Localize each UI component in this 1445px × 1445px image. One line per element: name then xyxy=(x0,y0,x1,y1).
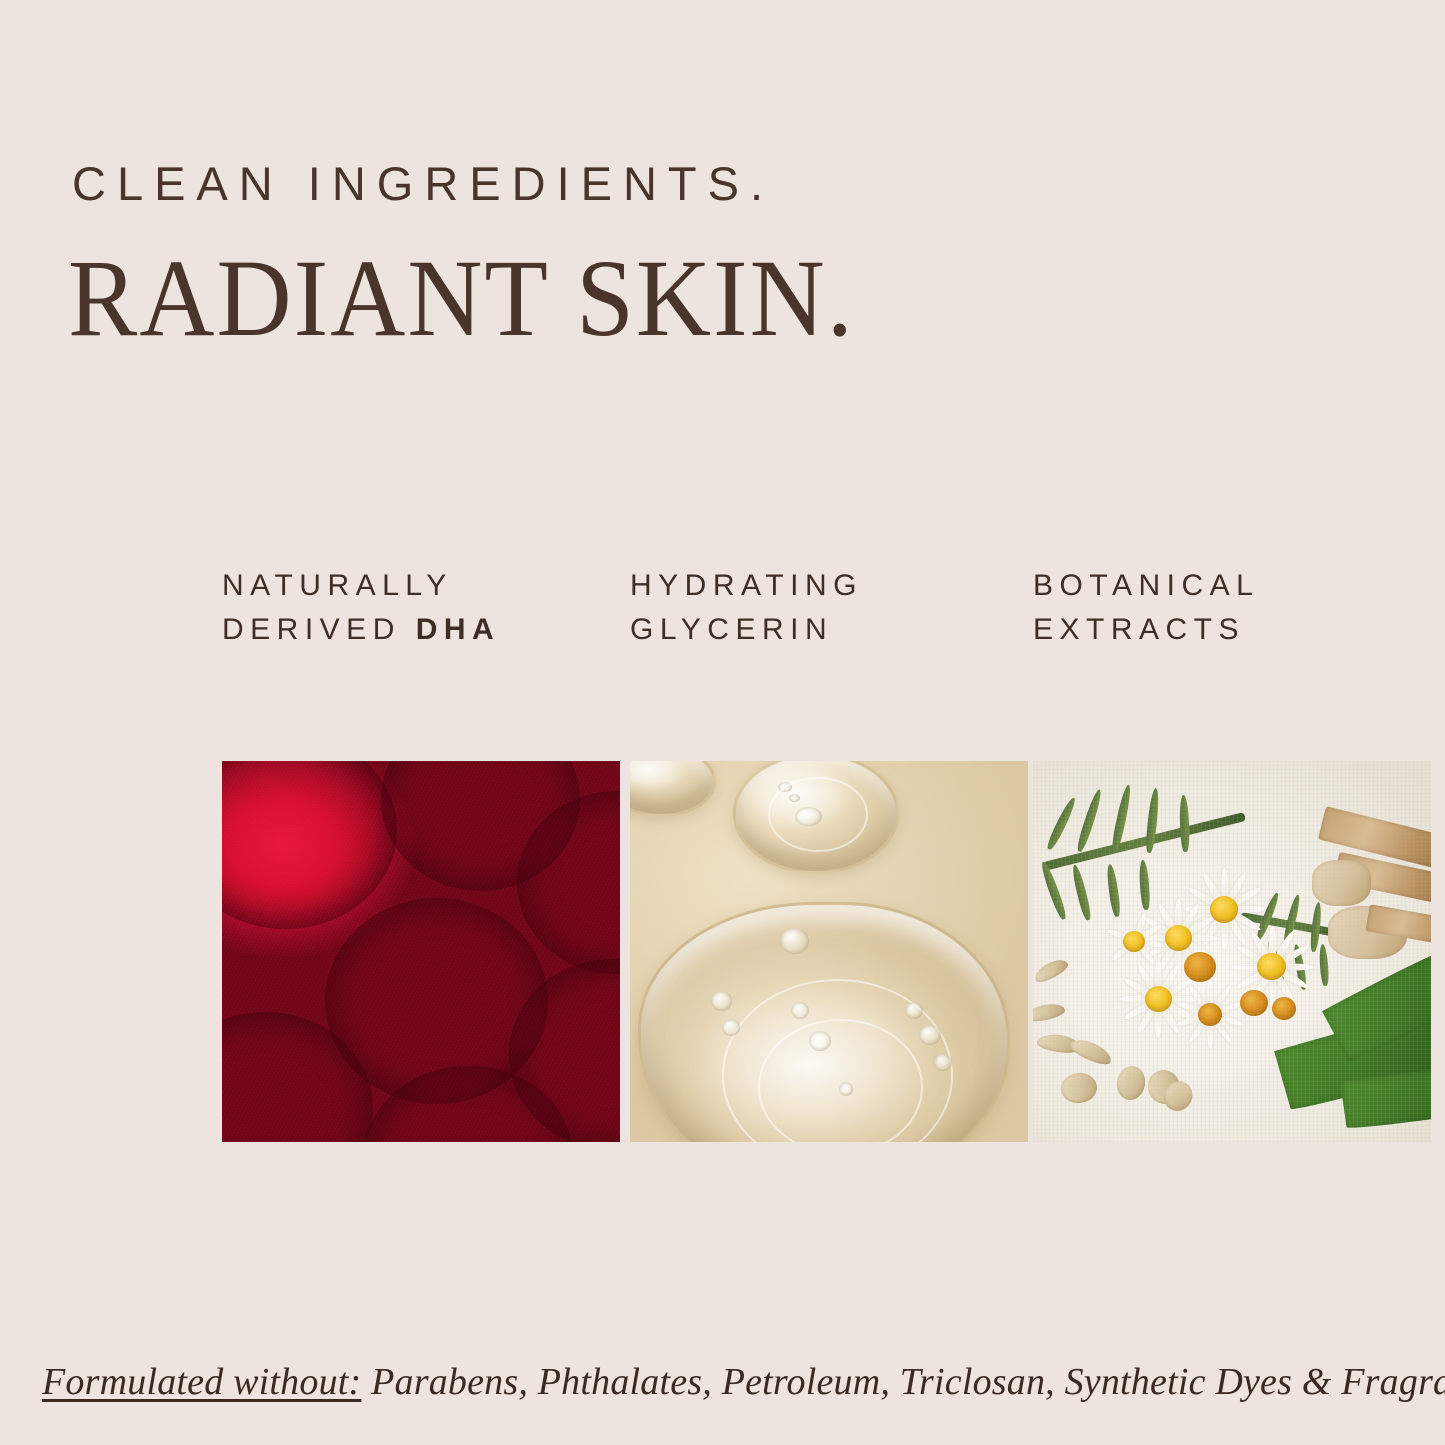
chamomile-flower xyxy=(1176,982,1244,1047)
beet-slice xyxy=(517,791,620,974)
rosemary-needle xyxy=(1309,902,1322,952)
wood-stick xyxy=(1366,905,1431,949)
beet-slice xyxy=(365,1066,572,1142)
rosemary-needle xyxy=(1105,864,1121,918)
oat-grain xyxy=(1144,1066,1185,1108)
disclaimer-list: Parabens, Phthalates, Petroleum, Triclos… xyxy=(361,1361,1445,1403)
chamomile-flower xyxy=(1232,929,1312,1005)
label-line-2: GLYCERIN xyxy=(630,613,833,646)
wood-stick xyxy=(1334,852,1431,907)
rosemary-needle xyxy=(1110,784,1133,853)
label-line-1: BOTANICAL xyxy=(1033,569,1259,602)
bubble xyxy=(809,1031,831,1051)
photo-glycerin-gel xyxy=(630,761,1028,1142)
bubble xyxy=(934,1054,952,1071)
rosemary-needle xyxy=(1039,860,1068,920)
rosemary-needle xyxy=(1266,940,1286,986)
gel-droplet xyxy=(733,761,898,874)
bubble xyxy=(780,928,809,954)
oat-grain xyxy=(1067,1035,1114,1068)
rosemary-needle xyxy=(1179,795,1190,852)
disclaimer-text: Formulated without: Parabens, Phthalates… xyxy=(42,1360,1412,1404)
beet-slice xyxy=(509,959,620,1142)
rosemary-needle xyxy=(1145,787,1160,852)
beet-slice xyxy=(222,1012,373,1142)
chamomile-flower xyxy=(1121,963,1197,1035)
wood-stick xyxy=(1317,806,1431,872)
rosemary-needle xyxy=(1075,788,1103,852)
bubble-ring xyxy=(758,1019,923,1142)
chamomile-disc xyxy=(1184,952,1216,982)
label-line-2: DERIVED xyxy=(222,613,416,646)
page-title: RADIANT SKIN. xyxy=(68,244,855,354)
chamomile-flower xyxy=(1184,871,1264,947)
ingredient-infographic: CLEAN INGREDIENTS. RADIANT SKIN. NATURAL… xyxy=(0,0,1445,1445)
green-leaf xyxy=(1322,944,1431,1065)
rosemary-needle xyxy=(1255,891,1281,940)
ingredient-column-glycerin: HYDRATING GLYCERIN xyxy=(630,564,1028,1054)
gel-droplet xyxy=(630,761,716,817)
rosemary-needle xyxy=(1070,864,1092,922)
gel-pool xyxy=(638,902,1010,1142)
chamomile-disc xyxy=(1240,990,1268,1017)
oat-grain xyxy=(1158,1076,1198,1117)
chamomile-disc xyxy=(1272,997,1296,1020)
oat-grain xyxy=(1059,1072,1098,1106)
oat-grain xyxy=(1033,955,1070,985)
rosemary-stem xyxy=(1240,912,1343,937)
bubble-ring xyxy=(768,777,868,852)
bubble xyxy=(905,1002,923,1019)
green-leaf xyxy=(1341,1065,1431,1131)
beet-slice xyxy=(325,898,548,1104)
ingredient-columns: NATURALLY DERIVED DHA HYDRATING GLYCERIN xyxy=(222,564,1423,1054)
wood-slice xyxy=(1312,860,1372,906)
oat-grain xyxy=(1033,1001,1066,1024)
oat-grain xyxy=(1114,1064,1147,1103)
rosemary-needle xyxy=(1318,944,1329,986)
rosemary-stem xyxy=(1043,812,1246,871)
photo-botanical-extracts xyxy=(1033,761,1431,1142)
rosemary-needle xyxy=(1045,796,1078,851)
label-emphasis: DHA xyxy=(416,613,501,646)
rosemary-needle xyxy=(1292,944,1308,990)
label-line-1: HYDRATING xyxy=(630,569,863,602)
bubble xyxy=(711,991,733,1011)
beet-slice xyxy=(381,761,580,891)
rosemary-needle xyxy=(1282,894,1302,944)
ingredient-column-dha: NATURALLY DERIVED DHA xyxy=(222,564,620,1054)
green-leaf xyxy=(1274,1007,1431,1113)
ingredient-column-botanical: BOTANICAL EXTRACTS xyxy=(1033,564,1431,1054)
chamomile-flower xyxy=(1140,902,1216,974)
oat-grain xyxy=(1036,1032,1082,1055)
ingredient-label-glycerin: HYDRATING GLYCERIN xyxy=(630,564,1028,660)
disclaimer-lead: Formulated without: xyxy=(42,1361,361,1403)
rosemary-needle xyxy=(1139,860,1151,910)
bubble xyxy=(919,1025,941,1045)
photo-sliced-beetroot xyxy=(222,761,620,1142)
label-line-2: EXTRACTS xyxy=(1033,613,1245,646)
kicker-text: CLEAN INGREDIENTS. xyxy=(72,160,774,207)
wood-slice xyxy=(1328,906,1408,959)
label-line-1: NATURALLY xyxy=(222,569,453,602)
ingredient-label-dha: NATURALLY DERIVED DHA xyxy=(222,564,620,660)
beet-slice xyxy=(222,761,397,929)
ingredient-label-botanical: BOTANICAL EXTRACTS xyxy=(1033,564,1431,660)
chamomile-flower xyxy=(1105,913,1165,970)
